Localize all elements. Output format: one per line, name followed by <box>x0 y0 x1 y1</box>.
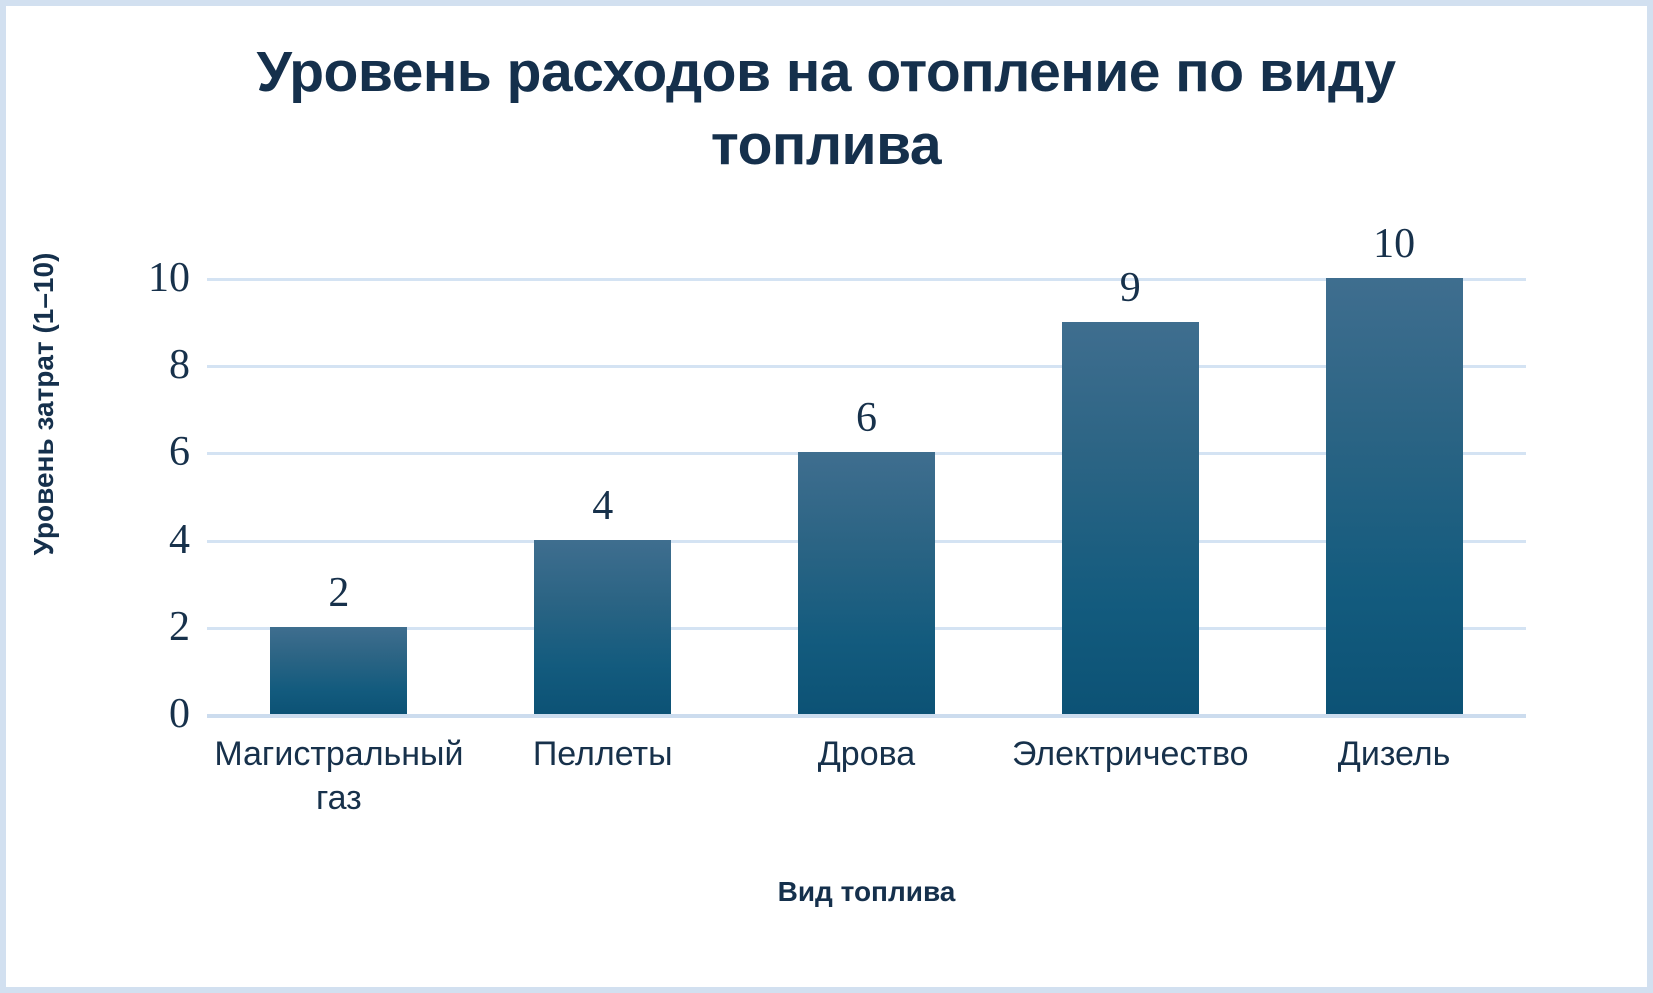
y-axis-title: Уровень затрат (1–10) <box>28 194 60 614</box>
bar-slot: 6 <box>735 278 999 714</box>
x-tick-label-pellets: Пеллеты <box>471 732 735 820</box>
y-tick-label: 4 <box>102 516 190 564</box>
bar-slot: 4 <box>471 278 735 714</box>
y-axis-tick-labels: 10 8 6 4 2 0 <box>102 278 190 714</box>
bar-value-label: 10 <box>1314 220 1474 268</box>
bar[interactable] <box>1062 322 1199 714</box>
y-tick-label: 10 <box>102 254 190 302</box>
bar[interactable] <box>1326 278 1463 714</box>
bar-value-label: 4 <box>523 482 683 530</box>
bar[interactable] <box>798 452 935 714</box>
y-tick-label: 2 <box>102 603 190 651</box>
y-tick-label: 6 <box>102 428 190 476</box>
x-axis-title: Вид топлива <box>207 876 1526 908</box>
y-tick-label: 8 <box>102 341 190 389</box>
plot-area: 2 4 6 9 10 <box>207 278 1526 714</box>
y-tick-label: 0 <box>102 690 190 738</box>
bar[interactable] <box>270 627 407 714</box>
bar[interactable] <box>534 540 671 714</box>
chart-title: Уровень расходов на отопление по виду то… <box>156 36 1496 182</box>
bar-slot: 9 <box>998 278 1262 714</box>
bar-slot: 10 <box>1262 278 1526 714</box>
bar-series: 2 4 6 9 10 <box>207 278 1526 714</box>
x-tick-label-gas: Магистральный газ <box>207 732 471 820</box>
chart-card: Уровень расходов на отопление по виду то… <box>0 0 1653 993</box>
x-axis-line <box>207 714 1526 718</box>
x-axis-tick-labels: Магистральный газ Пеллеты Дрова Электрич… <box>207 732 1526 820</box>
bar-slot: 2 <box>207 278 471 714</box>
x-tick-label-electricity: Электричество <box>998 732 1262 820</box>
bar-value-label: 6 <box>786 394 946 442</box>
bar-value-label: 9 <box>1050 264 1210 312</box>
x-tick-label-firewood: Дрова <box>735 732 999 820</box>
bar-value-label: 2 <box>259 569 419 617</box>
x-tick-label-diesel: Дизель <box>1262 732 1526 820</box>
